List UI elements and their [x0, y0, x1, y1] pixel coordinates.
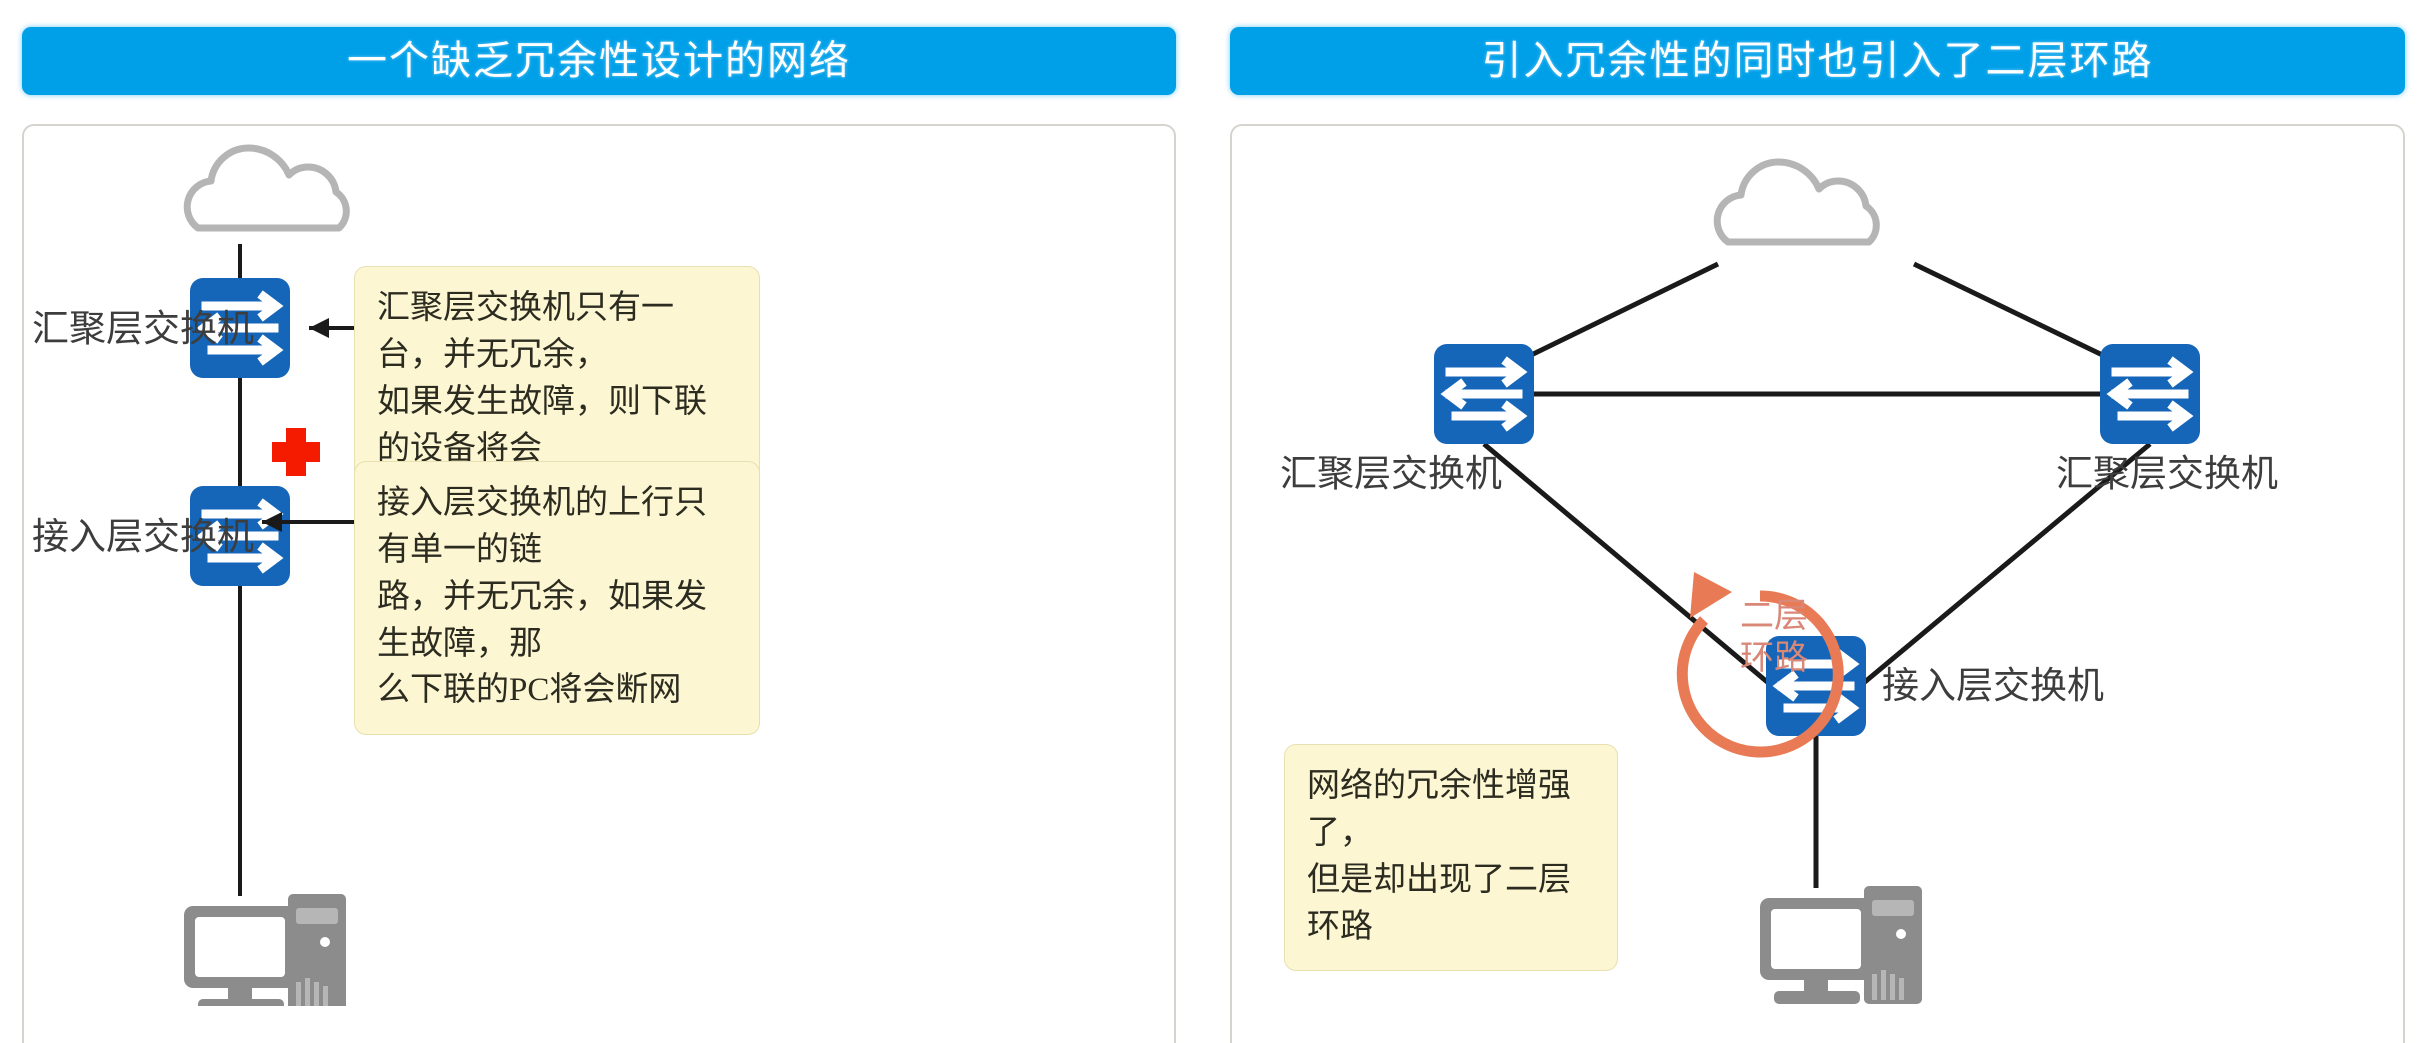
loop-annotation-line1: 二层 [1740, 596, 1808, 638]
red-cross-icon [272, 428, 320, 476]
callout-uplink: 接入层交换机的上行只有单一的链 路，并无冗余，如果发生故障，那 么下联的PC将会… [354, 461, 760, 735]
panel-body-right: 汇聚层交换机 汇聚层交换机 接入层交换机 二层 环路 网络的冗余性增强了， 但是… [1230, 124, 2405, 1043]
callout-pointer-aggregation [309, 318, 356, 338]
label-access-switch-right: 接入层交换机 [1882, 668, 2104, 705]
callout-line: 么下联的PC将会断网 [377, 667, 737, 714]
callout-loop: 网络的冗余性增强了， 但是却出现了二层环路 [1284, 744, 1618, 971]
label-aggregation-switch-left: 汇聚层交换机 [32, 311, 254, 348]
cloud-icon [187, 148, 346, 228]
callout-line: 如果发生故障，则下联的设备将会 [377, 379, 737, 473]
diagram-canvas-left: 汇聚层交换机 接入层交换机 汇聚层交换机只有一台，并无冗余， 如果发生故障，则下… [24, 126, 1174, 1043]
panel-redundancy-with-loop: 引入冗余性的同时也引入了二层环路 [1208, 0, 2419, 1003]
cloud-icon [1717, 162, 1876, 242]
diagram-canvas-right: 汇聚层交换机 汇聚层交换机 接入层交换机 二层 环路 网络的冗余性增强了， 但是… [1232, 126, 2403, 1043]
panel-header-left: 一个缺乏冗余性设计的网络 [22, 27, 1176, 95]
aggregation-switch-right-icon [2100, 344, 2200, 444]
loop-annotation-line2: 环路 [1740, 638, 1808, 680]
pc-icon [184, 894, 346, 1006]
loop-annotation: 二层 环路 [1740, 596, 1808, 680]
callout-line: 汇聚层交换机只有一台，并无冗余， [377, 285, 737, 379]
callout-line: 但是却出现了二层环路 [1307, 857, 1595, 951]
callout-line: 路，并无冗余，如果发生故障，那 [377, 574, 737, 668]
link-agg-left-to-access [1484, 444, 1772, 686]
panel-body-left: 汇聚层交换机 接入层交换机 汇聚层交换机只有一台，并无冗余， 如果发生故障，则下… [22, 124, 1176, 1043]
callout-line: 网络的冗余性增强了， [1307, 763, 1595, 857]
panel-title-left: 一个缺乏冗余性设计的网络 [347, 41, 851, 81]
callout-line: 接入层交换机的上行只有单一的链 [377, 480, 737, 574]
label-aggregation-switch-right-left: 汇聚层交换机 [1280, 456, 1502, 493]
panel-title-right: 引入冗余性的同时也引入了二层环路 [1482, 41, 2154, 81]
label-aggregation-switch-right-right: 汇聚层交换机 [2056, 456, 2278, 493]
label-access-switch-left: 接入层交换机 [32, 519, 254, 556]
panel-header-right: 引入冗余性的同时也引入了二层环路 [1230, 27, 2405, 95]
pc-icon [1760, 886, 1922, 1004]
aggregation-switch-left-icon [1434, 344, 1534, 444]
panel-no-redundancy: 一个缺乏冗余性设计的网络 [0, 0, 1190, 1003]
callout-pointer-uplink [262, 512, 356, 532]
